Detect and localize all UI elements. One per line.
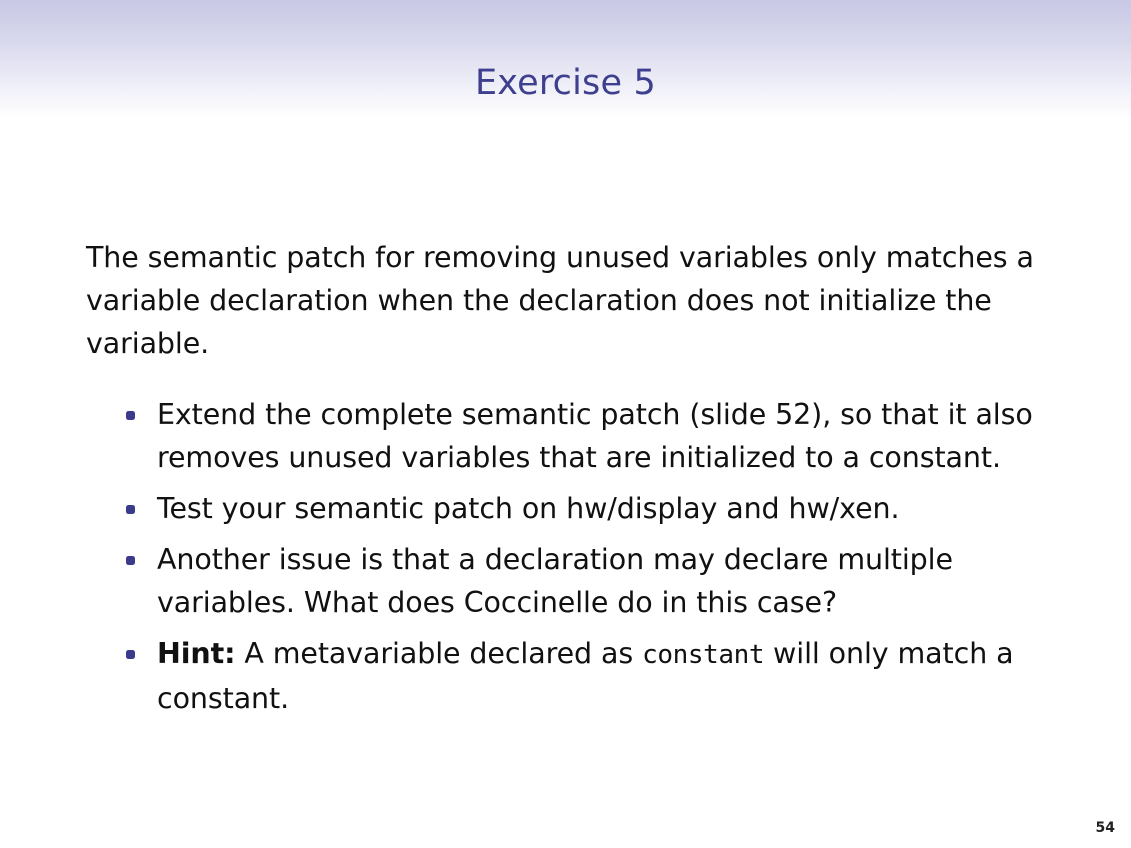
page-title: Exercise 5 (0, 61, 1131, 105)
list-item-text: Test your semantic patch on hw/display a… (157, 487, 1067, 530)
bullet-list: Extend the complete semantic patch (slid… (86, 393, 1066, 720)
list-item-text: Extend the complete semantic patch (slid… (157, 393, 1067, 479)
list-item: Extend the complete semantic patch (slid… (86, 393, 1067, 479)
page-number: 54 (1096, 820, 1115, 836)
list-item-text: Another issue is that a declaration may … (157, 538, 1067, 624)
hint-label: Hint: (157, 637, 235, 670)
bullet-dot-icon (126, 556, 135, 565)
inline-code-constant: constant (642, 640, 764, 670)
list-item: Another issue is that a declaration may … (86, 538, 1067, 624)
presentation-slide: Exercise 5 The semantic patch for removi… (0, 0, 1131, 848)
list-item-hint: Hint: A metavariable declared as constan… (86, 632, 1067, 720)
list-item: Test your semantic patch on hw/display a… (86, 487, 1067, 530)
hint-text-before-code: A metavariable declared as (235, 637, 642, 670)
list-item-text: Hint: A metavariable declared as constan… (157, 632, 1067, 720)
bullet-dot-icon (126, 505, 135, 514)
slide-body: The semantic patch for removing unused v… (86, 207, 1066, 728)
bullet-dot-icon (126, 650, 135, 659)
bullet-dot-icon (126, 411, 135, 420)
intro-paragraph: The semantic patch for removing unused v… (86, 236, 1041, 365)
